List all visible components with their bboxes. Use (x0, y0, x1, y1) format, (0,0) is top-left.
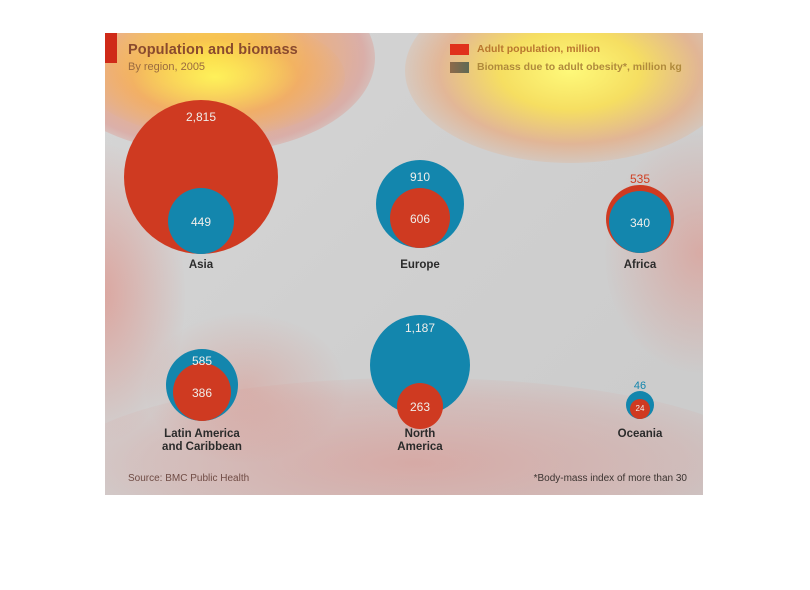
value-label-outer: 46 (580, 380, 700, 392)
infographic-panel: Population and biomass By region, 2005 A… (105, 33, 703, 495)
region-label-line: Oceania (550, 428, 703, 441)
screenshot-canvas: Population and biomass By region, 2005 A… (0, 0, 810, 590)
source-credit: Source: BMC Public Health (128, 473, 249, 484)
bubble-group-oceania[interactable]: 4624Oceania (105, 33, 703, 495)
value-label-inner: 24 (580, 404, 700, 413)
chart-footnote: *Body-mass index of more than 30 (534, 473, 687, 484)
region-label: Oceania (550, 428, 703, 441)
